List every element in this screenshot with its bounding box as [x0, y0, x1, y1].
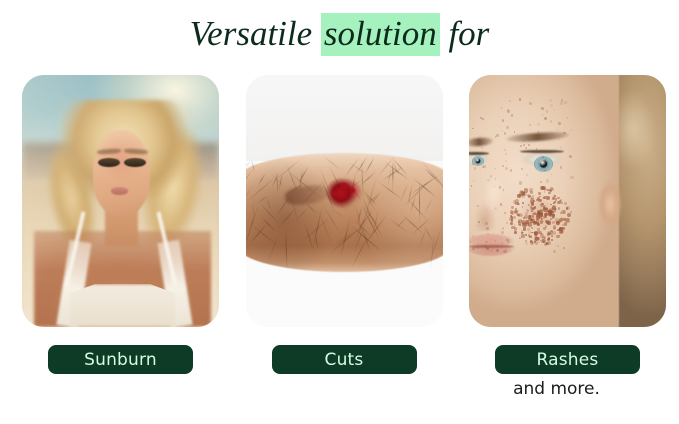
- photo-backdrop-top: [246, 75, 443, 161]
- photo-freckles: [469, 75, 666, 327]
- condition-card-row: [22, 75, 666, 327]
- condition-label-row: Sunburn Cuts Rashes: [22, 345, 666, 375]
- cut-photo: [246, 75, 443, 327]
- photo-blood-spot: [350, 188, 355, 193]
- title-highlighted-word: solution: [321, 13, 440, 56]
- photo-face: [93, 130, 150, 216]
- page-title: Versatile solution for: [0, 12, 679, 56]
- photo-blood-spot: [332, 191, 338, 196]
- rash-photo: [469, 75, 666, 327]
- photo-lips: [111, 187, 129, 195]
- and-more-text: and more.: [458, 379, 655, 399]
- title-text-after: for: [440, 14, 490, 53]
- label-cuts[interactable]: Cuts: [272, 345, 417, 374]
- title-text-before: Versatile: [190, 14, 321, 53]
- label-slot-rashes: Rashes: [469, 345, 666, 375]
- condition-card-sunburn[interactable]: [22, 75, 219, 327]
- photo-tanktop: [69, 284, 175, 327]
- sunburn-photo: [22, 75, 219, 327]
- label-slot-cuts: Cuts: [246, 345, 443, 375]
- photo-blood-spot: [340, 183, 348, 190]
- condition-card-cuts[interactable]: [246, 75, 443, 327]
- condition-card-rashes[interactable]: [469, 75, 666, 327]
- photo-eye-right: [124, 158, 146, 167]
- label-slot-sunburn: Sunburn: [22, 345, 219, 375]
- label-rashes[interactable]: Rashes: [495, 345, 640, 374]
- label-sunburn[interactable]: Sunburn: [48, 345, 193, 374]
- photo-eye-left: [98, 158, 120, 167]
